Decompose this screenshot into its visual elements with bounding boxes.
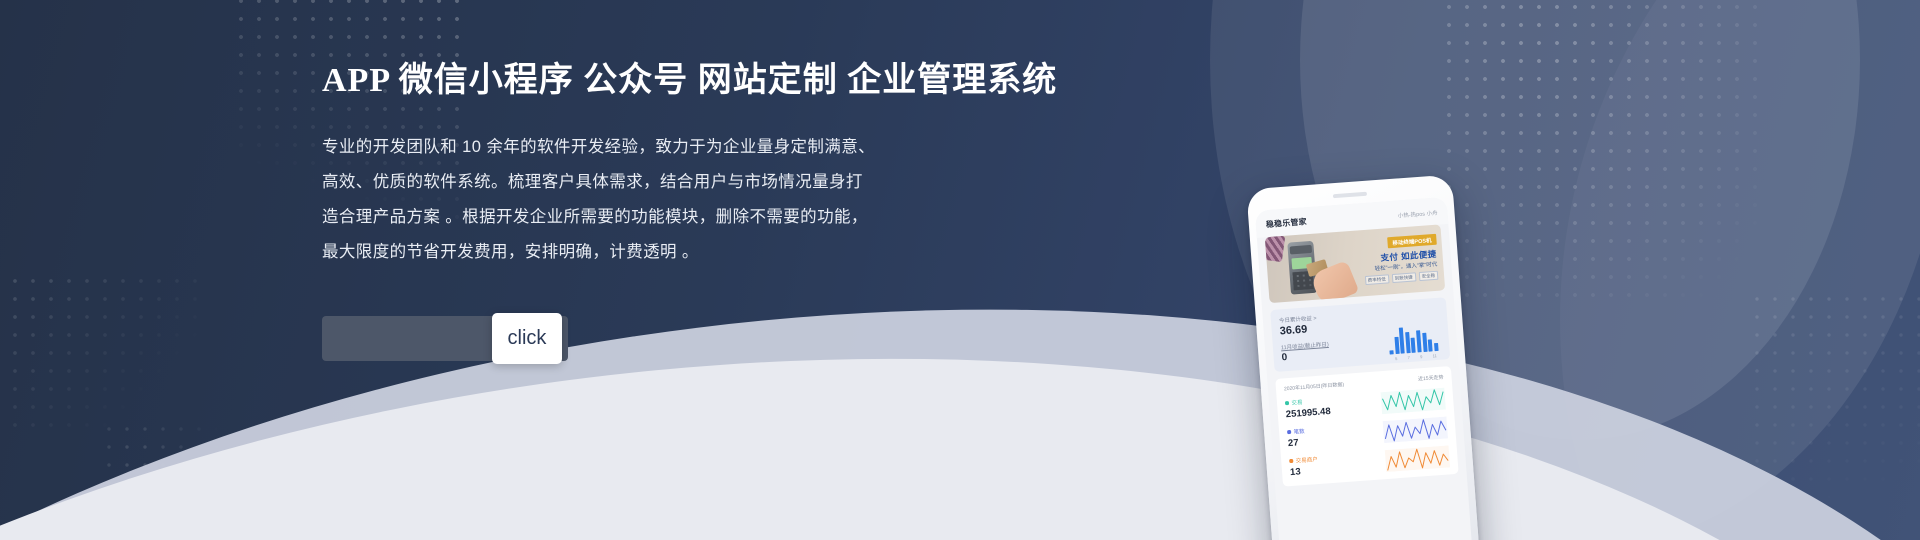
stats-date-label: 2020年11月05日(昨日数据): [1284, 381, 1345, 392]
dot-pattern-right: [1440, 0, 1770, 310]
earnings-summary-card[interactable]: 今日累计收益 > 36.69 11月收益(截止昨日) 0 57911: [1270, 297, 1450, 372]
bar: [1399, 327, 1405, 353]
stat-row-left: 笔数27: [1287, 427, 1306, 449]
axis-tick: 7: [1407, 355, 1410, 360]
promo-tag: 移动终端POS机: [1387, 234, 1437, 249]
page-title: APP 微信小程序 公众号 网站定制 企业管理系统: [322, 58, 1082, 104]
list-item[interactable]: 交易251995.48: [1285, 388, 1446, 422]
bar: [1394, 337, 1399, 354]
status-dot-icon: [1287, 430, 1291, 434]
stat-row-label: 交易商户: [1295, 455, 1318, 465]
promo-chip: 到账快捷: [1391, 272, 1416, 283]
bar: [1416, 330, 1422, 352]
phone-mockup: 稳稳乐管家 小热-热pos 小舟 移动终端POS机 支付 如此便捷 轻松"一刷"…: [1246, 174, 1481, 540]
stat-row-name: 交易商户: [1289, 455, 1318, 465]
sparkline-chart: [1380, 388, 1445, 415]
stat-row-left: 交易商户13: [1289, 455, 1319, 478]
stat-row-value: 13: [1290, 465, 1319, 478]
bar: [1405, 332, 1411, 353]
stat-row-left: 交易251995.48: [1285, 396, 1331, 420]
stat-row-value: 251995.48: [1285, 406, 1331, 420]
list-item[interactable]: 交易商户13: [1289, 445, 1450, 479]
stat-row-label: 笔数: [1293, 427, 1305, 436]
bar: [1428, 339, 1433, 351]
app-title: 稳稳乐管家: [1266, 216, 1308, 230]
app-subtitle: 小热-热pos 小舟: [1398, 208, 1438, 219]
stats-rows: 交易251995.48笔数27交易商户13: [1285, 388, 1450, 480]
stat-row-label: 交易: [1291, 398, 1303, 407]
promo-chip: 费率特低: [1364, 274, 1389, 285]
list-item[interactable]: 笔数27: [1287, 416, 1448, 450]
stats-list: 2020年11月05日(昨日数据) 近15天走势 交易251995.48笔数27…: [1275, 366, 1458, 487]
hero-copy: APP 微信小程序 公众号 网站定制 企业管理系统 专业的开发团队和 10 余年…: [322, 58, 1082, 270]
hero-banner: APP 微信小程序 公众号 网站定制 企业管理系统 专业的开发团队和 10 余年…: [0, 0, 1920, 540]
bar: [1411, 338, 1416, 353]
cta-group: click: [322, 316, 568, 361]
stat-row-name: 笔数: [1287, 427, 1305, 436]
promo-feature-chips: 费率特低 到账快捷 安全稳: [1364, 271, 1438, 285]
stat-row-value: 27: [1288, 437, 1306, 449]
phone-speaker-icon: [1333, 192, 1367, 198]
status-dot-icon: [1285, 401, 1289, 405]
earnings-bar-chart: [1388, 323, 1442, 355]
promo-chip: 安全稳: [1418, 271, 1438, 281]
description-line-4: 最大限度的节省开发费用，安排明确，计费透明 。: [322, 235, 1082, 270]
axis-tick: 9: [1420, 354, 1423, 359]
stats-trend-label: 近15天走势: [1418, 374, 1444, 383]
status-dot-icon: [1289, 459, 1293, 463]
sparkline-chart: [1383, 416, 1448, 443]
phone-screen: 稳稳乐管家 小热-热pos 小舟 移动终端POS机 支付 如此便捷 轻松"一刷"…: [1255, 197, 1474, 540]
click-button[interactable]: click: [492, 313, 562, 364]
phone-body: 稳稳乐管家 小热-热pos 小舟 移动终端POS机 支付 如此便捷 轻松"一刷"…: [1246, 174, 1481, 540]
hero-description: 专业的开发团队和 10 余年的软件开发经验，致力于为企业量身定制满意、 高效、优…: [322, 130, 1082, 270]
sparkline-chart: [1385, 445, 1450, 472]
axis-tick: 5: [1395, 356, 1398, 361]
fabric-decor: [1265, 233, 1285, 262]
axis-tick: 11: [1432, 353, 1437, 358]
bar: [1434, 343, 1439, 351]
description-line-1: 专业的开发团队和 10 余年的软件开发经验，致力于为企业量身定制满意、: [322, 130, 1082, 165]
app-promo-banner[interactable]: 移动终端POS机 支付 如此便捷 轻松"一刷"，通入"掌"时代 费率特低 到账快…: [1265, 224, 1445, 303]
bar: [1389, 350, 1393, 354]
bar: [1422, 333, 1427, 352]
description-line-3: 造合理产品方案 。根据开发企业所需要的功能模块，删除不需要的功能，: [322, 200, 1082, 235]
dot-pattern-bottom-left: [0, 272, 200, 432]
description-line-2: 高效、优质的软件系统。梳理客户具体需求，结合用户与市场情况量身打: [322, 165, 1082, 200]
